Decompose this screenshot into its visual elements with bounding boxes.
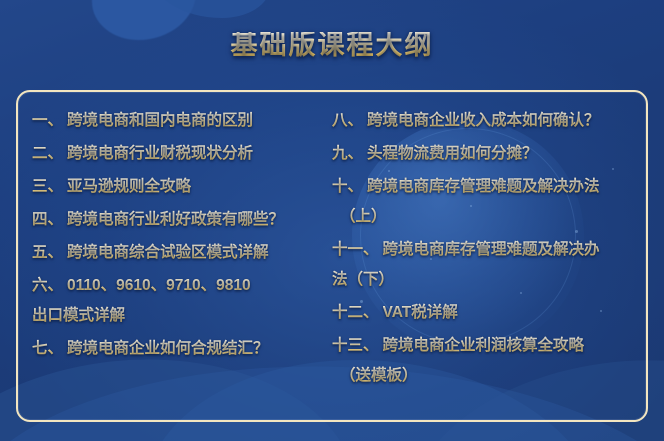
- list-item-continuation: 出口模式详解: [32, 303, 328, 325]
- list-item-text: 亚马逊规则全攻略: [67, 174, 191, 196]
- list-item: 一、 跨境电商和国内电商的区别: [32, 108, 328, 130]
- list-item-text: VAT税详解: [383, 300, 458, 322]
- outline-right-column: 八、 跨境电商企业收入成本如何确认？ 九、 头程物流费用如何分摊？ 十、 跨境电…: [328, 108, 652, 408]
- list-item-text: 跨境电商库存管理难题及解决办: [383, 237, 600, 259]
- list-item: 八、 跨境电商企业收入成本如何确认？: [332, 108, 652, 130]
- list-item-number: 二、: [32, 141, 63, 163]
- list-item: 九、 头程物流费用如何分摊？: [332, 141, 652, 163]
- list-item-text: 跨境电商和国内电商的区别: [67, 108, 253, 130]
- list-item-number: 一、: [32, 108, 63, 130]
- list-item: 二、 跨境电商行业财税现状分析: [32, 141, 328, 163]
- list-item-number: 八、: [332, 108, 363, 130]
- list-item: 十一、 跨境电商库存管理难题及解决办: [332, 237, 652, 259]
- list-item: 三、 亚马逊规则全攻略: [32, 174, 328, 196]
- list-item-continuation: （送模板）: [332, 363, 652, 385]
- list-item-number: 十、: [332, 174, 363, 196]
- list-item-text: 跨境电商企业利润核算全攻略: [383, 333, 585, 355]
- list-item-number: 九、: [332, 141, 363, 163]
- list-item-text: 0110、9610、9710、9810: [67, 273, 251, 295]
- course-outline-poster: 基础版课程大纲 一、 跨境电商和国内电商的区别 二、 跨境电商行业财税现状分析 …: [0, 0, 664, 441]
- list-item-text: 跨境电商企业如何合规结汇？: [67, 336, 269, 358]
- list-item-text: 跨境电商行业财税现状分析: [67, 141, 253, 163]
- list-item-number: 十二、: [332, 300, 379, 322]
- page-title: 基础版课程大纲: [0, 32, 664, 59]
- list-item-number: 十三、: [332, 333, 379, 355]
- outline-columns: 一、 跨境电商和国内电商的区别 二、 跨境电商行业财税现状分析 三、 亚马逊规则…: [16, 90, 648, 422]
- list-item-text: 跨境电商综合试验区模式详解: [67, 240, 269, 262]
- list-item: 十、 跨境电商库存管理难题及解决办法: [332, 174, 652, 196]
- list-item-number: 六、: [32, 273, 63, 295]
- list-item: 五、 跨境电商综合试验区模式详解: [32, 240, 328, 262]
- list-item: 七、 跨境电商企业如何合规结汇？: [32, 336, 328, 358]
- list-item-text: 头程物流费用如何分摊？: [367, 141, 538, 163]
- list-item-number: 七、: [32, 336, 63, 358]
- list-item-text: 跨境电商企业收入成本如何确认？: [367, 108, 600, 130]
- list-item-number: 三、: [32, 174, 63, 196]
- list-item-continuation: 法（下）: [332, 267, 652, 289]
- list-item-continuation: （上）: [332, 204, 652, 226]
- list-item: 十二、 VAT税详解: [332, 300, 652, 322]
- list-item: 六、 0110、9610、9710、9810: [32, 273, 328, 295]
- list-item-number: 十一、: [332, 237, 379, 259]
- outline-left-column: 一、 跨境电商和国内电商的区别 二、 跨境电商行业财税现状分析 三、 亚马逊规则…: [28, 108, 328, 408]
- list-item-number: 五、: [32, 240, 63, 262]
- list-item-number: 四、: [32, 207, 63, 229]
- list-item: 四、 跨境电商行业利好政策有哪些？: [32, 207, 328, 229]
- list-item: 十三、 跨境电商企业利润核算全攻略: [332, 333, 652, 355]
- list-item-text: 跨境电商行业利好政策有哪些？: [67, 207, 284, 229]
- list-item-text: 跨境电商库存管理难题及解决办法: [367, 174, 600, 196]
